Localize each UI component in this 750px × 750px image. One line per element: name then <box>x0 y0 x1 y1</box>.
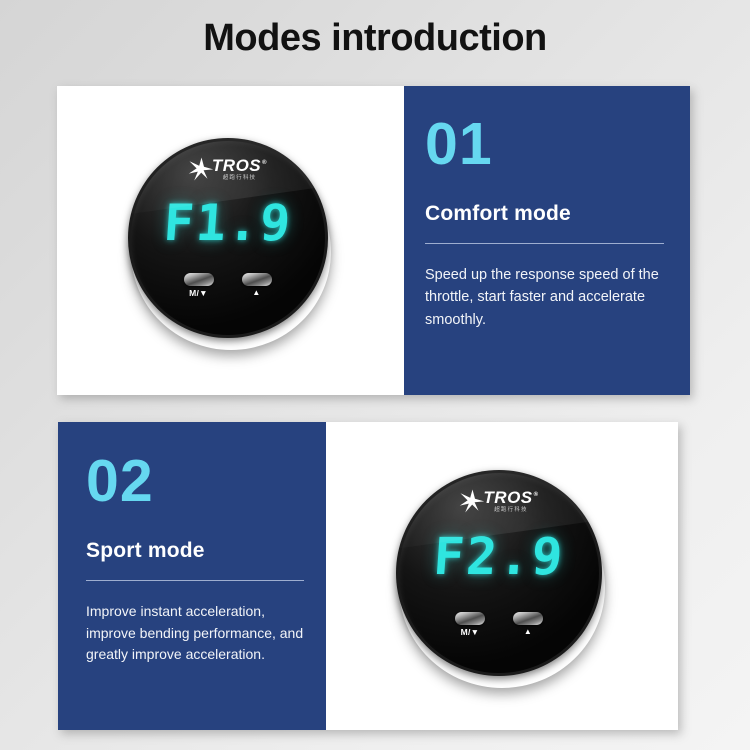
title-divider <box>86 580 304 581</box>
device-panel: TROS® 超跑行科技 F2.9 M/▼ ▲ <box>326 422 678 730</box>
brand-name: TROS® <box>483 489 538 506</box>
brand-logo: TROS® 超跑行科技 <box>396 489 602 514</box>
mode-info-panel: 01 Comfort mode Speed up the response sp… <box>404 86 690 395</box>
device-button-row: M/▼ ▲ <box>128 273 328 298</box>
page-title: Modes introduction <box>0 17 750 60</box>
brand-name-text: TROS <box>212 156 261 175</box>
mode-up-button[interactable]: ▲ <box>242 273 272 298</box>
mode-description: Speed up the response speed of the throt… <box>425 264 664 331</box>
mode-down-button-pill[interactable] <box>184 273 214 286</box>
brand-text-block: TROS® 超跑行科技 <box>212 157 267 182</box>
mode-down-button-label: M/▼ <box>461 628 480 637</box>
mode-down-button-pill[interactable] <box>455 612 485 625</box>
mode-up-button-pill[interactable] <box>242 273 272 286</box>
mode-down-button[interactable]: M/▼ <box>455 612 485 637</box>
mode-description: Improve instant acceleration, improve be… <box>86 601 304 666</box>
mode-up-button[interactable]: ▲ <box>513 612 543 637</box>
brand-text-block: TROS® 超跑行科技 <box>483 489 538 514</box>
mode-info-panel: 02 Sport mode Improve instant accelerati… <box>58 422 326 730</box>
mode-number: 01 <box>425 115 664 174</box>
registered-mark-icon: ® <box>262 160 267 166</box>
mode-title: Comfort mode <box>425 202 664 226</box>
brand-subtitle: 超跑行科技 <box>494 508 528 514</box>
star-x-icon <box>188 157 214 181</box>
mode-up-button-label: ▲ <box>524 628 532 636</box>
mode-number: 02 <box>86 452 304 511</box>
title-divider <box>425 243 664 244</box>
brand-logo: TROS® 超跑行科技 <box>128 157 328 182</box>
mode-title: Sport mode <box>86 539 304 563</box>
mode-display-readout: F1.9 <box>128 194 328 252</box>
mode-card-sport: 02 Sport mode Improve instant accelerati… <box>58 422 678 730</box>
mode-down-button[interactable]: M/▼ <box>184 273 214 298</box>
brand-name-text: TROS <box>483 488 532 507</box>
mode-card-comfort: TROS® 超跑行科技 F1.9 M/▼ ▲ <box>57 86 690 395</box>
device-panel: TROS® 超跑行科技 F1.9 M/▼ ▲ <box>57 86 404 395</box>
throttle-controller-device: TROS® 超跑行科技 F1.9 M/▼ ▲ <box>128 138 334 344</box>
mode-down-button-label: M/▼ <box>189 289 208 298</box>
device-face: TROS® 超跑行科技 F2.9 M/▼ ▲ <box>396 470 602 676</box>
device-button-row: M/▼ ▲ <box>396 612 602 637</box>
mode-up-button-pill[interactable] <box>513 612 543 625</box>
mode-display-readout: F2.9 <box>396 528 602 587</box>
registered-mark-icon: ® <box>534 492 539 498</box>
device-face: TROS® 超跑行科技 F1.9 M/▼ ▲ <box>128 138 328 338</box>
brand-name: TROS® <box>212 157 267 174</box>
brand-subtitle: 超跑行科技 <box>223 176 257 182</box>
star-x-icon <box>459 489 485 513</box>
mode-up-button-label: ▲ <box>252 289 260 297</box>
throttle-controller-device: TROS® 超跑行科技 F2.9 M/▼ ▲ <box>396 470 608 682</box>
